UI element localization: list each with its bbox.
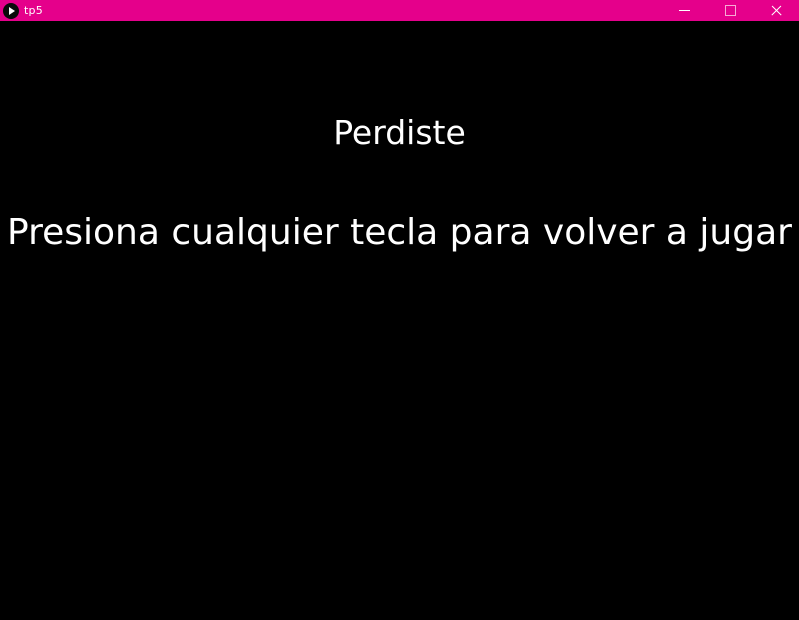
restart-prompt: Presiona cualquier tecla para volver a j… xyxy=(0,211,799,255)
minimize-icon xyxy=(679,10,690,11)
play-circle-icon xyxy=(3,3,19,19)
title-bar[interactable]: tp5 xyxy=(0,0,799,21)
maximize-icon xyxy=(725,5,736,16)
play-triangle-icon xyxy=(9,7,15,15)
window-controls xyxy=(661,0,799,21)
maximize-button[interactable] xyxy=(707,0,753,21)
close-icon xyxy=(770,5,782,17)
close-button[interactable] xyxy=(753,0,799,21)
window-title: tp5 xyxy=(24,0,43,21)
game-over-message: Perdiste xyxy=(0,113,799,153)
minimize-button[interactable] xyxy=(661,0,707,21)
application-window: tp5 Perdiste Presiona cualquier tecla pa… xyxy=(0,0,799,620)
game-canvas[interactable]: Perdiste Presiona cualquier tecla para v… xyxy=(0,21,799,620)
